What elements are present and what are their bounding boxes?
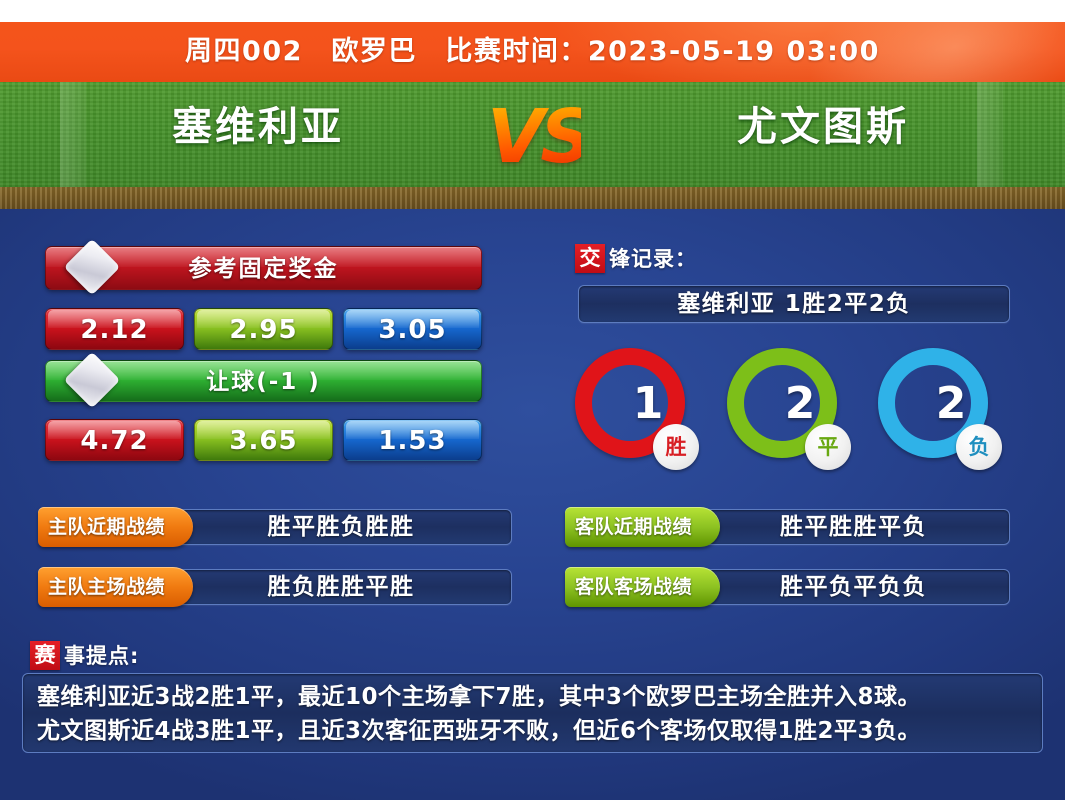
header-title: 周四002 欧罗巴 比赛时间：2023-05-19 03:00 bbox=[0, 22, 1065, 82]
tips-box: 塞维利亚近3战2胜1平，最近10个主场拿下7胜，其中3个欧罗巴主场全胜并入8球。… bbox=[22, 673, 1043, 753]
home-recent-form-tab: 主队近期战绩 bbox=[38, 507, 193, 547]
away-team-name: 尤文图斯 bbox=[643, 98, 1003, 156]
odds-away-handicap-value: 1.53 bbox=[344, 420, 481, 461]
odds-draw-fixed-value: 2.95 bbox=[195, 309, 332, 350]
h2h-ring-win: 1 胜 bbox=[575, 348, 695, 468]
home-team-name: 塞维利亚 bbox=[78, 98, 438, 156]
ring-draw-badge: 平 bbox=[805, 424, 851, 470]
h2h-heading-label: 锋记录： bbox=[609, 243, 697, 273]
header-bar: 周四002 欧罗巴 比赛时间：2023-05-19 03:00 bbox=[0, 22, 1065, 82]
h2h-badge-icon: 交 bbox=[575, 244, 605, 273]
home-venue-form-label: 主队主场战绩 bbox=[48, 567, 193, 607]
h2h-ring-loss: 2 负 bbox=[878, 348, 998, 468]
ring-loss-badge: 负 bbox=[956, 424, 1002, 470]
away-venue-form-tab: 客队客场战绩 bbox=[565, 567, 720, 607]
odds-home-handicap-value: 4.72 bbox=[46, 420, 183, 461]
odds-draw-handicap-value: 3.65 bbox=[195, 420, 332, 461]
away-recent-form-tab: 客队近期战绩 bbox=[565, 507, 720, 547]
odds-home-handicap[interactable]: 4.72 bbox=[45, 419, 184, 461]
tips-heading: 赛事提点: bbox=[30, 640, 139, 670]
odds-draw-handicap[interactable]: 3.65 bbox=[194, 419, 333, 461]
odds-away-fixed-value: 3.05 bbox=[344, 309, 481, 350]
ring-win-badge: 胜 bbox=[653, 424, 699, 470]
h2h-summary-text: 塞维利亚 1胜2平2负 bbox=[579, 286, 1009, 322]
home-venue-form-tab: 主队主场战绩 bbox=[38, 567, 193, 607]
odds-home-fixed[interactable]: 2.12 bbox=[45, 308, 184, 350]
home-recent-form-label: 主队近期战绩 bbox=[48, 507, 193, 547]
tips-heading-label: 事提点: bbox=[64, 640, 139, 670]
odds-draw-fixed[interactable]: 2.95 bbox=[194, 308, 333, 350]
match-preview-card: 周四002 欧罗巴 比赛时间：2023-05-19 03:00 塞维利亚 VS … bbox=[0, 0, 1065, 800]
away-recent-form-label: 客队近期战绩 bbox=[575, 507, 720, 547]
vs-icon: VS bbox=[487, 82, 581, 192]
tips-line-1: 塞维利亚近3战2胜1平，最近10个主场拿下7胜，其中3个欧罗巴主场全胜并入8球。 bbox=[37, 680, 1028, 714]
tips-badge-icon: 赛 bbox=[30, 641, 60, 670]
tips-line-2: 尤文图斯近4战3胜1平，且近3次客征西班牙不败，但近6个客场仅取得1胜2平3负。 bbox=[37, 714, 1028, 748]
odds-home-fixed-value: 2.12 bbox=[46, 309, 183, 350]
odds-away-handicap[interactable]: 1.53 bbox=[343, 419, 482, 461]
away-venue-form-label: 客队客场战绩 bbox=[575, 567, 720, 607]
odds-away-fixed[interactable]: 3.05 bbox=[343, 308, 482, 350]
h2h-ring-draw: 2 平 bbox=[727, 348, 847, 468]
h2h-heading: 交锋记录： bbox=[575, 243, 697, 273]
h2h-summary-field: 塞维利亚 1胜2平2负 bbox=[578, 285, 1010, 323]
